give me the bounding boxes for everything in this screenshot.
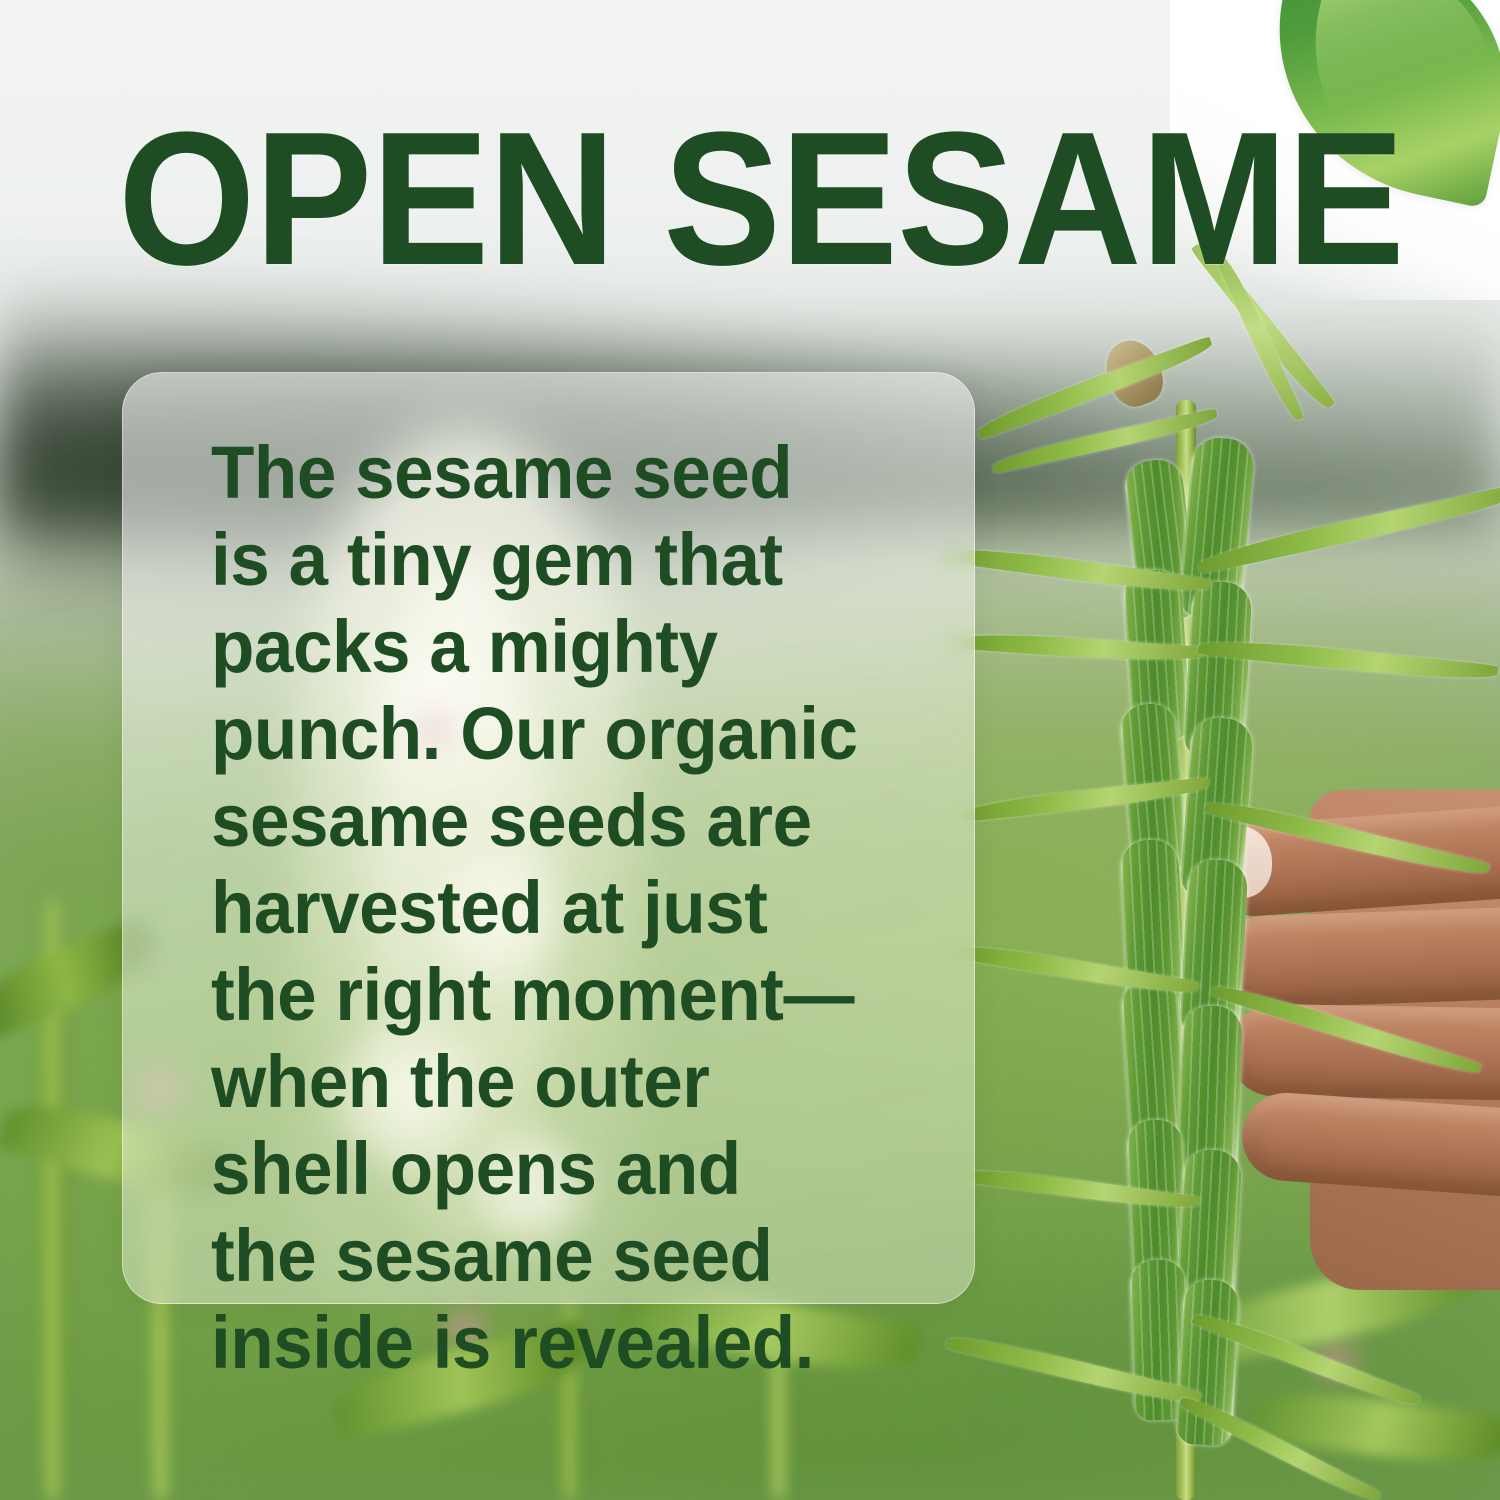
finger — [1239, 1090, 1500, 1198]
finger — [1227, 1003, 1500, 1100]
infographic-canvas: OPEN SESAME The sesame seed is a tiny ge… — [0, 0, 1500, 1500]
body-paragraph: The sesame seed is a tiny gem that packs… — [211, 429, 864, 1386]
sesame-plant-photo — [980, 320, 1500, 1500]
page-title: OPEN SESAME — [118, 104, 1404, 294]
glass-text-card: The sesame seed is a tiny gem that packs… — [122, 372, 975, 1304]
